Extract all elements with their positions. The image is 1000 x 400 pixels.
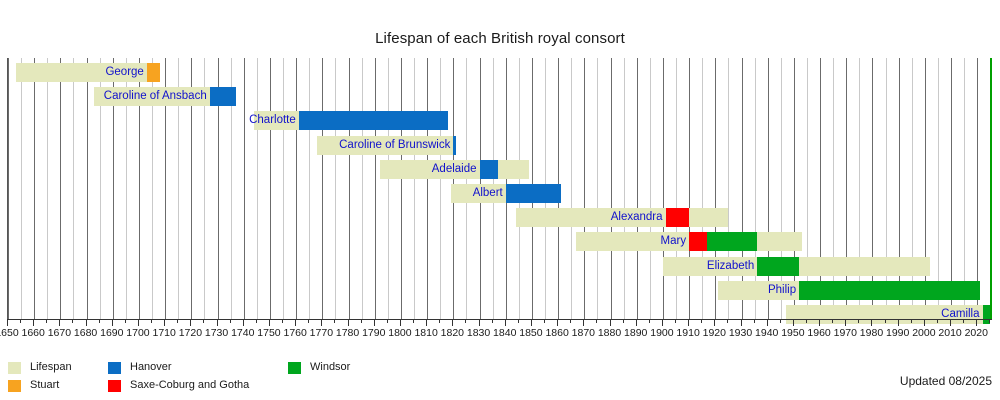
axis-tick-label: 1790	[362, 327, 385, 339]
legend-swatch	[108, 362, 121, 374]
legend-label: Windsor	[310, 360, 350, 375]
axis-tick-label: 1840	[493, 327, 516, 339]
bar-segment-hanover[interactable]	[453, 136, 456, 155]
legend-swatch	[8, 380, 21, 392]
axis-tick-label: 1710	[152, 327, 175, 339]
axis-tick-label: 1970	[834, 327, 857, 339]
bar-row[interactable]: Camilla	[8, 305, 993, 324]
bar-row[interactable]: Mary	[8, 232, 993, 251]
bar-label: Philip	[8, 281, 796, 300]
axis-tick-label: 1760	[283, 327, 306, 339]
axis-tick-label: 1990	[886, 327, 909, 339]
axis-tick-label: 1920	[703, 327, 726, 339]
bar-label: George	[8, 63, 144, 82]
axis-tick-label: 1720	[179, 327, 202, 339]
bar-label: Adelaide	[8, 160, 477, 179]
bar-segment-saxe-coburg-and-gotha[interactable]	[666, 208, 690, 227]
bar-label: Albert	[8, 184, 503, 203]
axis-tick-label: 1980	[860, 327, 883, 339]
bar-row[interactable]: Adelaide	[8, 160, 993, 179]
axis-tick-label: 1660	[22, 327, 45, 339]
legend-swatch	[108, 380, 121, 392]
axis-tick-label: 2000	[912, 327, 935, 339]
bar-row[interactable]: Caroline of Ansbach	[8, 87, 993, 106]
axis-tick-label: 1750	[257, 327, 280, 339]
bar-segment-lifespan[interactable]	[689, 208, 728, 227]
bar-segment-windsor[interactable]	[757, 257, 799, 276]
axis-tick-label: 1860	[545, 327, 568, 339]
axis-tick-label: 1810	[414, 327, 437, 339]
bar-row[interactable]: Elizabeth	[8, 257, 993, 276]
bars-container: GeorgeCaroline of AnsbachCharlotteCaroli…	[8, 58, 992, 319]
axis-tick-label: 1700	[126, 327, 149, 339]
axis-tick-label: 1670	[48, 327, 71, 339]
bar-segment-windsor[interactable]	[799, 281, 980, 300]
chart-plot-area: GeorgeCaroline of AnsbachCharlotteCaroli…	[7, 58, 992, 319]
axis-tick-2025	[989, 319, 990, 323]
bar-label: Caroline of Ansbach	[8, 87, 207, 106]
axis-tick-label: 1910	[676, 327, 699, 339]
axis-tick-label: 1890	[624, 327, 647, 339]
page-title: Lifespan of each British royal consort	[0, 30, 1000, 47]
bar-row[interactable]: Charlotte	[8, 111, 993, 130]
axis-tick-label: 1690	[100, 327, 123, 339]
bar-label: Alexandra	[8, 208, 663, 227]
bar-segment-hanover[interactable]	[480, 160, 498, 179]
bar-segment-hanover[interactable]	[299, 111, 448, 130]
chart-legend: LifespanStuartHanoverSaxe-Coburg and Got…	[8, 360, 708, 396]
axis-tick-label: 1830	[467, 327, 490, 339]
axis-tick-label: 1770	[310, 327, 333, 339]
bar-segment-saxe-coburg-and-gotha[interactable]	[689, 232, 707, 251]
axis-tick-label: 1850	[519, 327, 542, 339]
axis-tick-label: 1820	[441, 327, 464, 339]
bar-segment-lifespan[interactable]	[498, 160, 529, 179]
bar-segment-hanover[interactable]	[506, 184, 561, 203]
legend-label: Lifespan	[30, 360, 72, 375]
axis-tick-label: 2020	[965, 327, 988, 339]
bar-label: Elizabeth	[8, 257, 754, 276]
legend-label: Stuart	[30, 378, 59, 393]
legend-label: Hanover	[130, 360, 172, 375]
axis-tick-label: 1950	[781, 327, 804, 339]
axis-tick-label: 1730	[205, 327, 228, 339]
axis-tick-label: 1960	[807, 327, 830, 339]
bar-segment-stuart[interactable]	[147, 63, 160, 82]
axis-tick-label: 1900	[650, 327, 673, 339]
bar-segment-lifespan[interactable]	[757, 232, 802, 251]
bar-label: Charlotte	[8, 111, 296, 130]
axis-tick-label: 1800	[388, 327, 411, 339]
bar-segment-windsor[interactable]	[707, 232, 757, 251]
bar-label: Mary	[8, 232, 686, 251]
bar-segment-hanover[interactable]	[210, 87, 236, 106]
axis-tick-label: 1740	[231, 327, 254, 339]
today-marker-line	[990, 58, 992, 319]
bar-row[interactable]: George	[8, 63, 993, 82]
axis-tick-label: 2010	[938, 327, 961, 339]
axis-tick-label: 1870	[572, 327, 595, 339]
legend-label: Saxe-Coburg and Gotha	[130, 378, 249, 393]
axis-tick-label: 1780	[336, 327, 359, 339]
bar-row[interactable]: Alexandra	[8, 208, 993, 227]
axis-tick-label: 1940	[755, 327, 778, 339]
axis-tick-label: 1650	[0, 327, 19, 339]
legend-swatch	[288, 362, 301, 374]
axis-tick-label: 1880	[598, 327, 621, 339]
bar-label: Camilla	[8, 305, 980, 324]
bar-segment-lifespan[interactable]	[799, 257, 930, 276]
axis-tick-label: 1930	[729, 327, 752, 339]
bar-row[interactable]: Albert	[8, 184, 993, 203]
axis-tick-label: 1680	[74, 327, 97, 339]
legend-swatch	[8, 362, 21, 374]
bar-row[interactable]: Caroline of Brunswick	[8, 136, 993, 155]
bar-label: Caroline of Brunswick	[8, 136, 450, 155]
updated-label: Updated 08/2025	[900, 374, 992, 388]
bar-row[interactable]: Philip	[8, 281, 993, 300]
